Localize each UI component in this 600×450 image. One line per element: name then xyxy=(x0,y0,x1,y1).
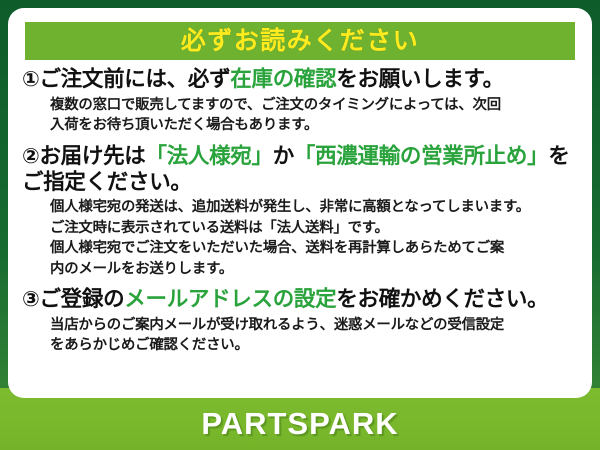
notice-item-2: ②お届け先は「法人様宛」か「西濃運輸の営業所止め」をご指定ください。 個人様宅宛… xyxy=(22,143,580,280)
notice-heading-2-middle: か xyxy=(273,144,294,168)
notice-body-3-line-1: 当店からのご案内メールが受け取れるよう、迷惑メールなどの受信設定 xyxy=(50,315,580,335)
notice-heading-1-after: をお願いします。 xyxy=(336,67,503,91)
notice-heading-2: ②お届け先は「法人様宛」か「西濃運輸の営業所止め」をご指定ください。 xyxy=(22,143,580,196)
notice-number-3: ③ xyxy=(22,288,39,311)
notice-body-2: 個人様宅宛の発送は、追加送料が発生し、非常に高額となってしまいます。 ご注文時に… xyxy=(22,197,580,279)
notice-banner: 必ずお読みください ①ご注文前には、必ず在庫の確認をお願いします。 複数の窓口で… xyxy=(0,0,600,450)
notice-heading-2-highlight: 「法人様宛」 xyxy=(146,144,273,168)
notice-body-1-line-1: 複数の窓口で販売してますので、ご注文のタイミングによっては、次回 xyxy=(50,95,580,115)
notice-heading-1-highlight: 在庫の確認 xyxy=(230,67,336,91)
notice-body-3-line-2: をあらかじめご確認ください。 xyxy=(50,335,580,355)
notice-item-3: ③ご登録のメールアドレスの設定をお確かめください。 当店からのご案内メールが受け… xyxy=(22,286,580,356)
notice-body-3: 当店からのご案内メールが受け取れるよう、迷惑メールなどの受信設定 をあらかじめご… xyxy=(22,315,580,356)
page-title: 必ずお読みください xyxy=(181,29,420,54)
notice-list: ①ご注文前には、必ず在庫の確認をお願いします。 複数の窓口で販売してますので、ご… xyxy=(8,66,592,363)
notice-number-1: ① xyxy=(22,68,39,91)
notice-body-2-line-3: 個人様宅宛でご注文をいただいた場合、送料を再計算しあらためてご案 xyxy=(50,238,580,258)
notice-heading-1-before: ご注文前には、必ず xyxy=(39,67,230,91)
notice-heading-2-before: お届け先は xyxy=(39,144,145,168)
notice-heading-2-highlight-2: 「西濃運輸の営業所止め」 xyxy=(294,144,548,168)
notice-heading-1: ①ご注文前には、必ず在庫の確認をお願いします。 xyxy=(22,66,580,93)
notice-heading-3-highlight: メールアドレスの設定 xyxy=(124,287,336,311)
notice-body-1-line-2: 入荷をお待ち頂いただく場合もあります。 xyxy=(50,115,580,135)
notice-number-2: ② xyxy=(22,145,39,168)
notice-heading-3-after: をお確かめください。 xyxy=(336,287,548,311)
notice-body-1: 複数の窓口で販売してますので、ご注文のタイミングによっては、次回 入荷をお待ち頂… xyxy=(22,95,580,136)
header-banner: 必ずお読みください xyxy=(25,22,575,60)
notice-body-2-line-4: 内のメールをお送りします。 xyxy=(50,259,580,279)
notice-heading-3-before: ご登録の xyxy=(39,287,124,311)
notice-heading-3: ③ご登録のメールアドレスの設定をお確かめください。 xyxy=(22,286,580,313)
notice-body-2-line-2: ご注文時に表示されている送料は「法人送料」です。 xyxy=(50,218,580,238)
white-content-card: 必ずお読みください ①ご注文前には、必ず在庫の確認をお願いします。 複数の窓口で… xyxy=(8,8,592,398)
notice-body-2-line-1: 個人様宅宛の発送は、追加送料が発生し、非常に高額となってしまいます。 xyxy=(50,197,580,217)
notice-item-1: ①ご注文前には、必ず在庫の確認をお願いします。 複数の窓口で販売してますので、ご… xyxy=(22,66,580,136)
